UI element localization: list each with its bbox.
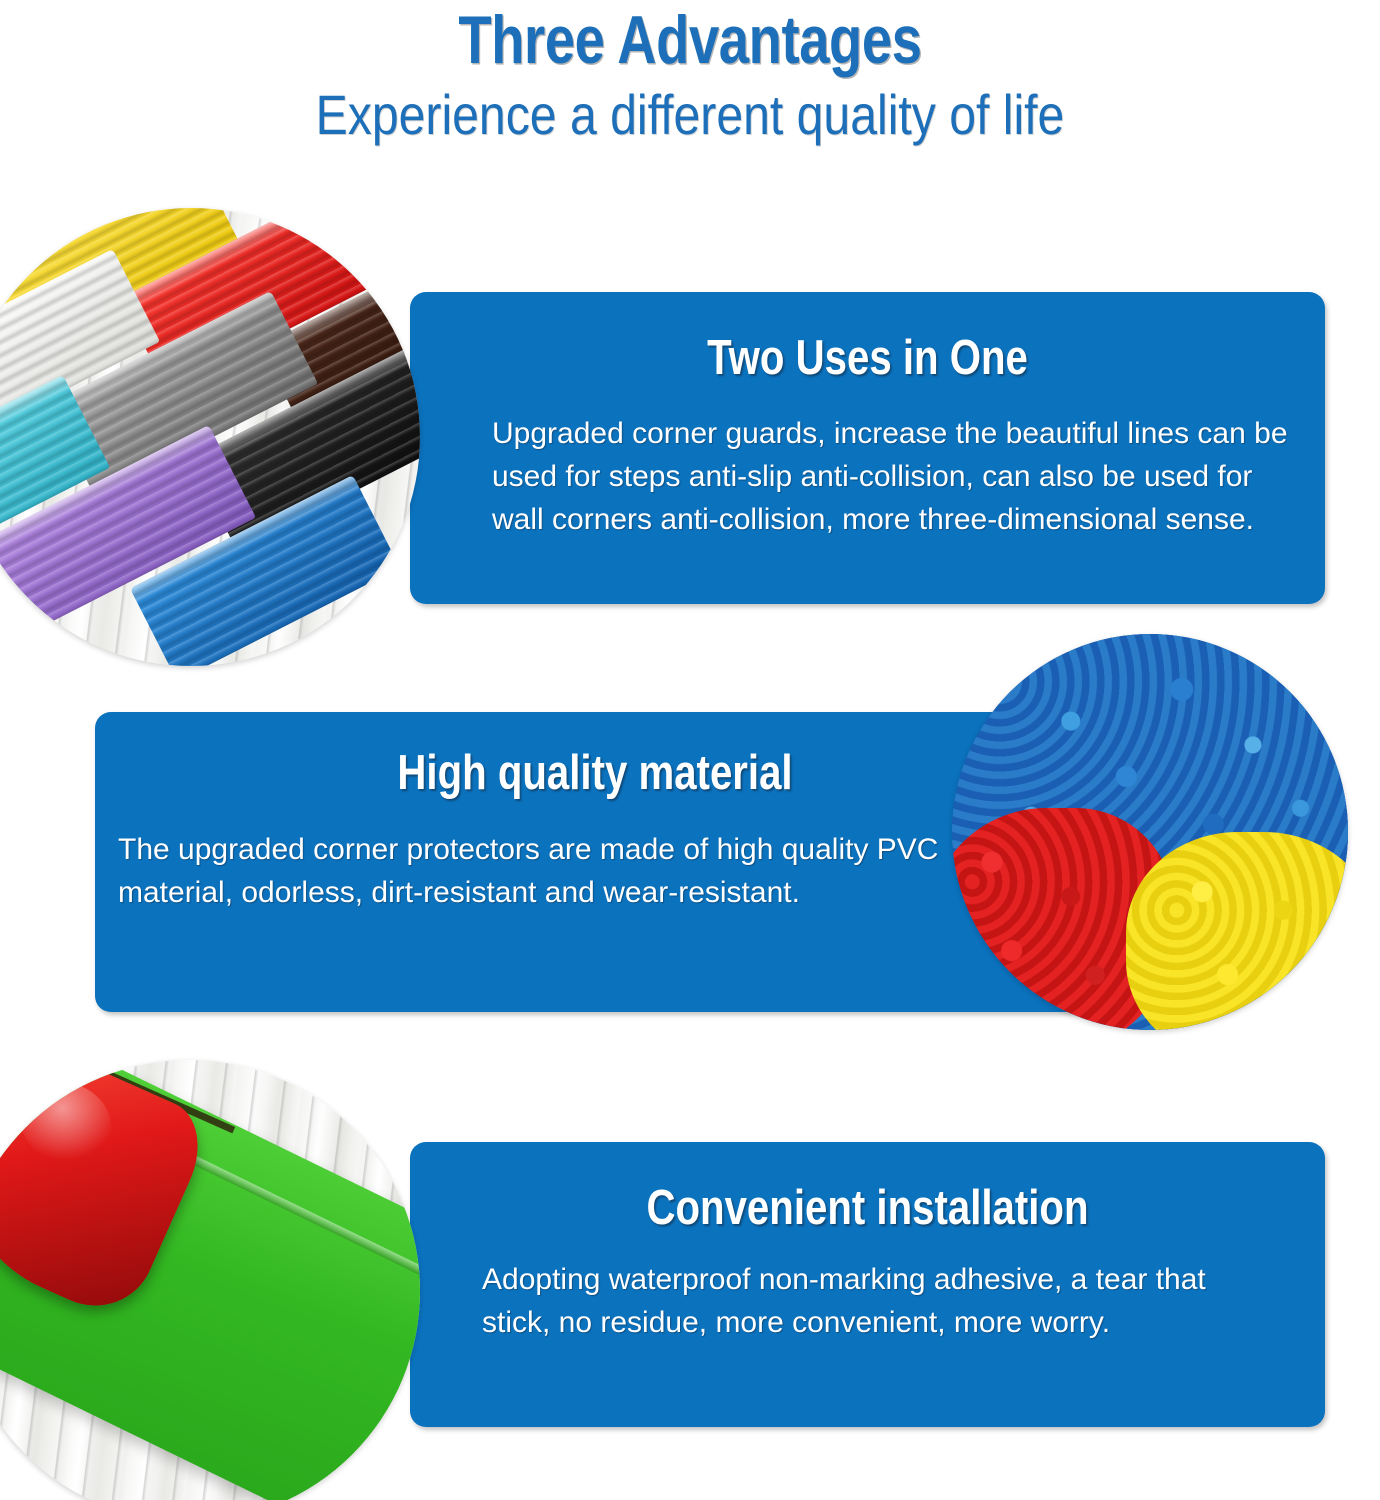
film-highlight xyxy=(7,1068,125,1179)
card-body-convenient-installation: Adopting waterproof non-marking adhesive… xyxy=(482,1258,1282,1344)
card-title-two-uses-in-one: Two Uses in One xyxy=(492,330,1242,386)
pellet-zone-yellow xyxy=(1126,832,1348,1030)
card-title-high-quality-material: High quality material xyxy=(185,745,1005,801)
card-body-high-quality-material: The upgraded corner protectors are made … xyxy=(118,828,998,914)
page-title: Three Advantages xyxy=(138,2,1242,78)
card-title-convenient-installation: Convenient installation xyxy=(492,1180,1242,1236)
card-body-two-uses-in-one: Upgraded corner guards, increase the bea… xyxy=(492,412,1307,541)
infographic-page: Three Advantages Experience a different … xyxy=(0,0,1380,1500)
corner-guards-photo xyxy=(0,208,420,666)
adhesive-peel-photo xyxy=(0,1060,420,1500)
page-header: Three Advantages Experience a different … xyxy=(0,0,1380,170)
pvc-pellets-photo xyxy=(952,634,1348,1030)
page-subtitle: Experience a different quality of life xyxy=(97,84,1284,146)
